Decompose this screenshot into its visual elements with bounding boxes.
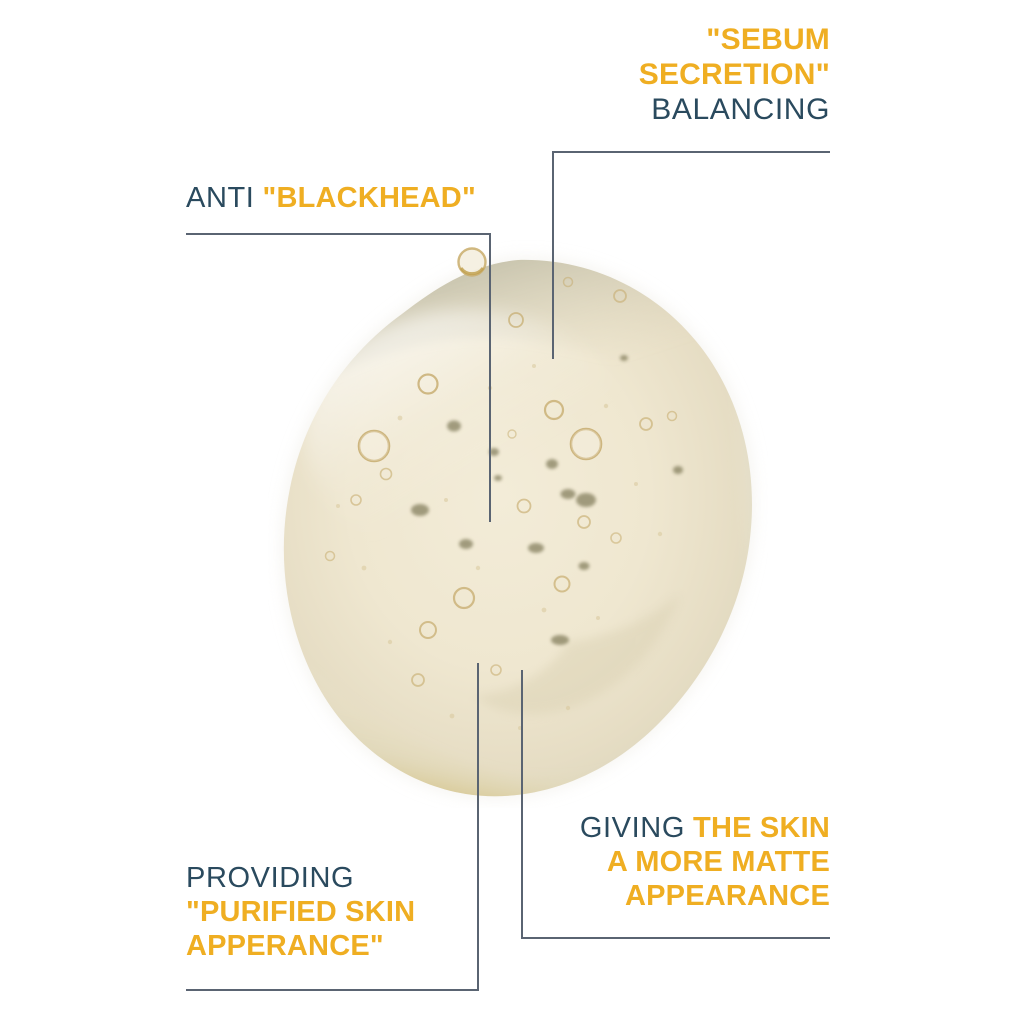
callout-providing-line1: PROVIDING	[186, 862, 415, 896]
infographic-canvas: "SEBUM SECRETION" BALANCING ANTI "BLACKH…	[0, 0, 1024, 1024]
callout-sebum-secretion: "SEBUM SECRETION" BALANCING	[639, 22, 830, 127]
callout-sebum-line1: "SEBUM	[639, 22, 830, 57]
connector-matte-horizontal	[521, 937, 830, 939]
callout-blackhead-keyword: "BLACKHEAD"	[263, 182, 476, 214]
callout-matte-giving: GIVING	[580, 812, 685, 844]
connector-sebum-horizontal	[552, 151, 830, 153]
connector-matte-vertical	[521, 670, 523, 938]
callout-matte-theskin: THE SKIN	[693, 812, 830, 844]
callout-purified-skin: PROVIDING "PURIFIED SKIN APPERANCE"	[186, 862, 415, 964]
connector-providing-horizontal	[186, 989, 479, 991]
callout-sebum-line3: BALANCING	[639, 92, 830, 127]
callout-blackhead-line1: ANTI "BLACKHEAD"	[186, 182, 476, 216]
callout-matte-line1: GIVING THE SKIN	[580, 812, 830, 846]
connector-sebum-vertical	[552, 151, 554, 359]
callout-matte-appearance: GIVING THE SKIN A MORE MATTE APPEARANCE	[580, 812, 830, 914]
connector-blackhead-vertical	[489, 233, 491, 522]
top-rim-bubble	[459, 249, 486, 276]
callout-blackhead-anti: ANTI	[186, 182, 254, 214]
connector-blackhead-horizontal	[186, 233, 491, 235]
callout-providing-line3: APPERANCE"	[186, 930, 415, 964]
callout-anti-blackhead: ANTI "BLACKHEAD"	[186, 182, 476, 216]
callout-sebum-line2: SECRETION"	[639, 57, 830, 92]
connector-providing-vertical	[477, 663, 479, 990]
callout-matte-line2: A MORE MATTE	[580, 846, 830, 880]
callout-providing-line2: "PURIFIED SKIN	[186, 896, 415, 930]
gel-droplet-image	[268, 238, 768, 808]
callout-matte-line3: APPEARANCE	[580, 880, 830, 914]
